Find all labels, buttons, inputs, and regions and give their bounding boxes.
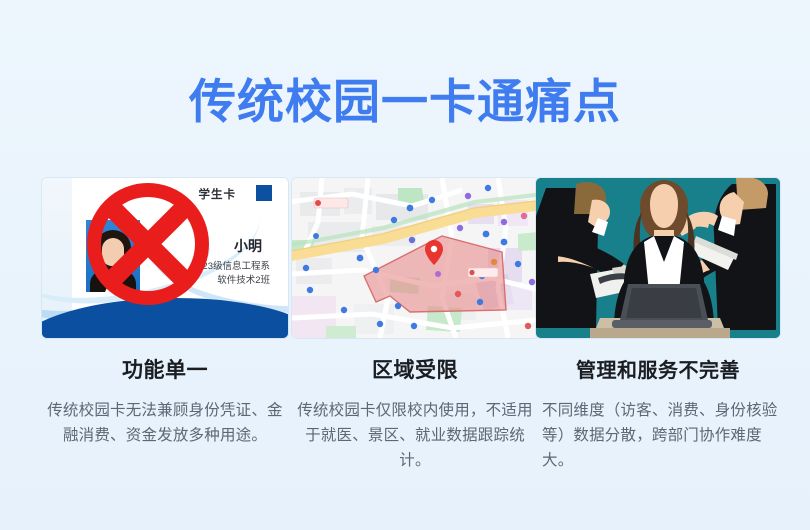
- student-dept-line-2: 软件技术2班: [202, 274, 270, 288]
- office-overload-illustration: [536, 178, 780, 338]
- red-x-cross-icon: [84, 180, 212, 308]
- map-thumbnail: [292, 178, 538, 338]
- student-dept-label: 23级信息工程系 软件技术2班: [202, 260, 270, 288]
- card-body-text: 传统校园卡无法兼顾身份凭证、金融消费、资金发放多种用途。: [42, 398, 288, 448]
- pain-point-card-management: 管理和服务不完善 不同维度（访客、消费、身份核验等）数据分散，跨部门协作难度大。: [536, 178, 780, 473]
- pain-point-card-functionality: 学生卡 小明 23级信息工程系 软件技术2班: [42, 178, 288, 448]
- office-thumbnail: [536, 178, 780, 338]
- pain-point-card-area-limited: 区域受限 传统校园卡仅限校内使用，不适用于就医、景区、就业数据跟踪统计。: [292, 178, 538, 473]
- card-heading: 管理和服务不完善: [536, 358, 780, 384]
- card-body-text: 传统校园卡仅限校内使用，不适用于就医、景区、就业数据跟踪统计。: [292, 398, 538, 473]
- page-title: 传统校园一卡通痛点: [0, 74, 810, 130]
- card-heading: 功能单一: [42, 358, 288, 384]
- campus-map-illustration: [292, 178, 538, 338]
- student-dept-line-1: 23级信息工程系: [202, 260, 270, 274]
- laptop: [612, 284, 712, 328]
- desk-front: [590, 328, 730, 338]
- poster-root: 传统校园一卡通痛点 学生卡: [0, 0, 810, 530]
- card-body-text: 不同维度（访客、消费、身份核验等）数据分散，跨部门协作难度大。: [536, 398, 780, 473]
- student-id-card-illustration: 学生卡 小明 23级信息工程系 软件技术2班: [42, 178, 288, 338]
- pain-point-columns: 学生卡 小明 23级信息工程系 软件技术2班: [0, 178, 810, 518]
- card-heading: 区域受限: [292, 358, 538, 384]
- id-card-logo-square: [256, 185, 272, 201]
- student-card-thumbnail: 学生卡 小明 23级信息工程系 软件技术2班: [42, 178, 288, 338]
- map-svg: [292, 178, 538, 338]
- student-name-label: 小明: [234, 236, 262, 256]
- office-svg: [536, 178, 780, 338]
